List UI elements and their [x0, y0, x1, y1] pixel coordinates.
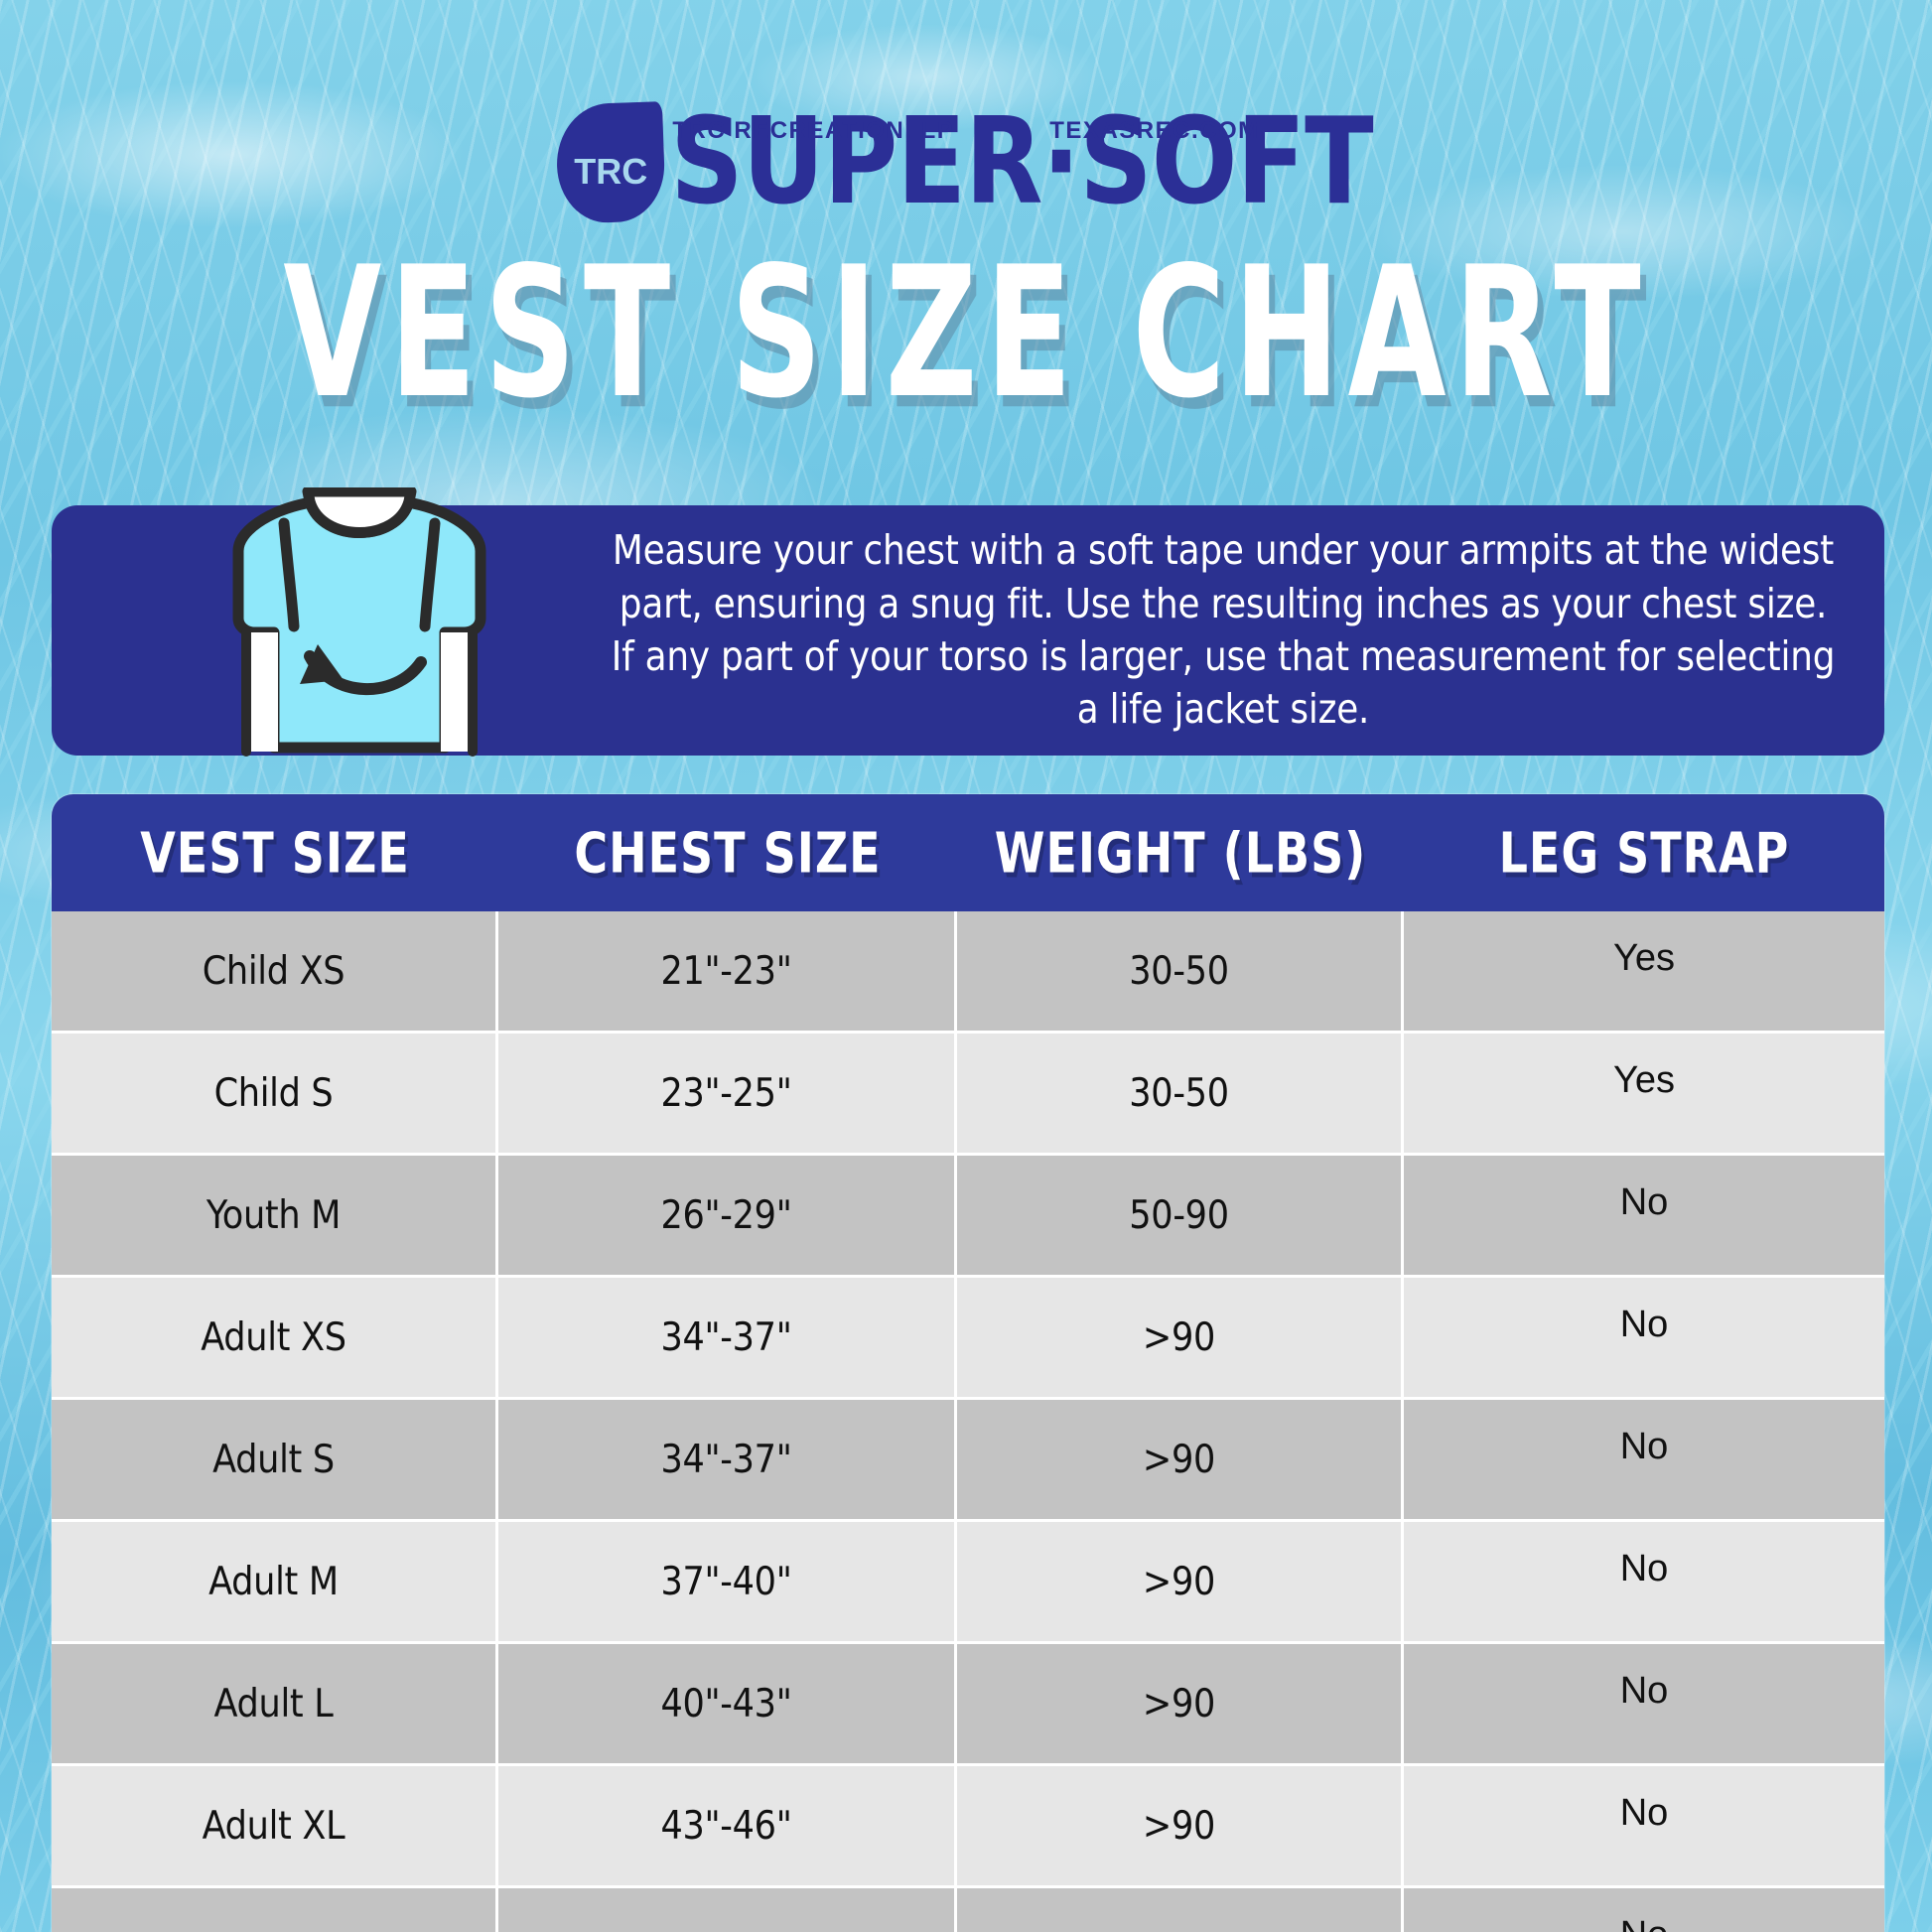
cell-weight: >90 [957, 1888, 1404, 1932]
cell-leg-strap: No [1404, 1400, 1884, 1522]
cell-vest-size: Adult L [52, 1644, 498, 1766]
cell-leg-strap: Yes [1404, 1034, 1884, 1156]
cell-chest-size: 34"-37" [498, 1400, 957, 1522]
cell-vest-size: Adult XXL [52, 1888, 498, 1932]
cell-weight: >90 [957, 1522, 1404, 1644]
cell-leg-strap: No [1404, 1522, 1884, 1644]
cell-leg-strap: No [1404, 1156, 1884, 1278]
cell-leg-strap: No [1404, 1766, 1884, 1888]
table-row: Youth M 26"-29" 50-90 No [52, 1156, 1884, 1278]
torso-measure-illustration [161, 487, 558, 756]
cell-leg-strap: No [1404, 1644, 1884, 1766]
cell-chest-size: 21"-23" [498, 911, 957, 1034]
vest-size-table: VEST SIZE CHEST SIZE WEIGHT (LBS) LEG ST… [52, 794, 1884, 1932]
cell-weight: >90 [957, 1644, 1404, 1766]
cell-chest-size: 40"-43" [498, 1644, 957, 1766]
cell-vest-size: Adult XL [52, 1766, 498, 1888]
logo-row: TRC SUPER·SOFT [557, 103, 1374, 222]
trc-monogram: TRC [557, 103, 664, 222]
cell-chest-size: 46"-48" [498, 1888, 957, 1932]
table-row: Adult L 40"-43" >90 No [52, 1644, 1884, 1766]
cell-vest-size: Adult S [52, 1400, 498, 1522]
table-row: Adult XS 34"-37" >90 No [52, 1278, 1884, 1400]
table-row: Child S 23"-25" 30-50 Yes [52, 1034, 1884, 1156]
cell-weight: 30-50 [957, 911, 1404, 1034]
cell-vest-size: Child S [52, 1034, 498, 1156]
cell-chest-size: 23"-25" [498, 1034, 957, 1156]
cell-chest-size: 26"-29" [498, 1156, 957, 1278]
column-header-weight: WEIGHT (LBS) [957, 820, 1404, 886]
cell-vest-size: Child XS [52, 911, 498, 1034]
cell-vest-size: Adult XS [52, 1278, 498, 1400]
page-title: VEST SIZE CHART [0, 244, 1932, 425]
cell-leg-strap: No [1404, 1278, 1884, 1400]
cell-chest-size: 37"-40" [498, 1522, 957, 1644]
trc-droplet-icon: TRC [557, 103, 664, 222]
table-row: Adult M 37"-40" >90 No [52, 1522, 1884, 1644]
column-header-leg-strap: LEG STRAP [1404, 820, 1884, 886]
cell-weight: >90 [957, 1766, 1404, 1888]
cell-chest-size: 43"-46" [498, 1766, 957, 1888]
column-header-chest-size: CHEST SIZE [498, 820, 957, 886]
instruction-banner: Measure your chest with a soft tape unde… [52, 505, 1884, 756]
cell-vest-size: Adult M [52, 1522, 498, 1644]
column-header-vest-size: VEST SIZE [52, 820, 498, 886]
table-row: Adult XL 43"-46" >90 No [52, 1766, 1884, 1888]
table-row: Adult XXL 46"-48" >90 No [52, 1888, 1884, 1932]
cell-leg-strap: No [1404, 1888, 1884, 1932]
cell-vest-size: Youth M [52, 1156, 498, 1278]
cell-chest-size: 34"-37" [498, 1278, 957, 1400]
table-row: Child XS 21"-23" 30-50 Yes [52, 911, 1884, 1034]
brand-wordmark: SUPER·SOFT [668, 103, 1374, 222]
cell-weight: 50-90 [957, 1156, 1404, 1278]
table-row: Adult S 34"-37" >90 No [52, 1400, 1884, 1522]
cell-weight: >90 [957, 1400, 1404, 1522]
brand-logo: TRC SUPER·SOFT [0, 103, 1932, 227]
cell-leg-strap: Yes [1404, 911, 1884, 1034]
cell-weight: 30-50 [957, 1034, 1404, 1156]
cell-weight: >90 [957, 1278, 1404, 1400]
table-header-row: VEST SIZE CHEST SIZE WEIGHT (LBS) LEG ST… [52, 794, 1884, 911]
instruction-text: Measure your chest with a soft tape unde… [607, 519, 1840, 742]
